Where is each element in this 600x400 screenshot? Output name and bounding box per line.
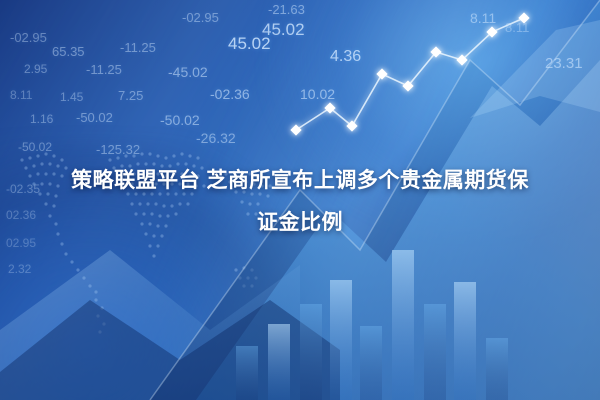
price-number: -02.95 [10,30,47,45]
price-number: 8.11 [10,88,32,102]
price-number: 23.31 [545,55,583,72]
promo-banner-image: -21.6345.028.11-02.9545.024.36-11.2565.3… [0,0,600,400]
headline-text: 策略联盟平台 芝商所宣布上调多个贵金属期货保 证金比例 [0,160,600,244]
price-number: -50.02 [18,140,52,154]
price-number: 45.02 [262,20,305,40]
headline-line-1: 策略联盟平台 芝商所宣布上调多个贵金属期货保 [0,160,600,202]
price-number: 8.11 [470,10,496,26]
price-number: -02.95 [182,10,219,25]
price-number: 1.16 [30,112,53,126]
price-number: 4.36 [330,48,361,66]
price-number: 8.11 [505,20,529,35]
price-number: -26.32 [196,130,236,146]
price-number: -50.02 [160,112,200,128]
price-number: 2.32 [8,262,31,276]
price-number: -50.02 [76,110,113,125]
price-number: 1.45 [60,90,83,104]
price-number: 10.02 [300,86,335,102]
price-number: -125.32 [96,142,140,157]
price-number: -11.25 [86,62,122,77]
price-number: 65.35 [52,44,85,59]
price-number: 2.95 [24,62,47,76]
price-number: 7.25 [118,88,143,103]
price-number: -11.25 [120,40,156,55]
headline-line-2: 证金比例 [0,202,600,244]
price-number: 45.02 [228,34,271,54]
price-number: -21.63 [268,2,305,17]
price-number: -02.36 [210,86,250,102]
price-number: -45.02 [168,64,208,80]
world-map-dots [0,120,330,370]
